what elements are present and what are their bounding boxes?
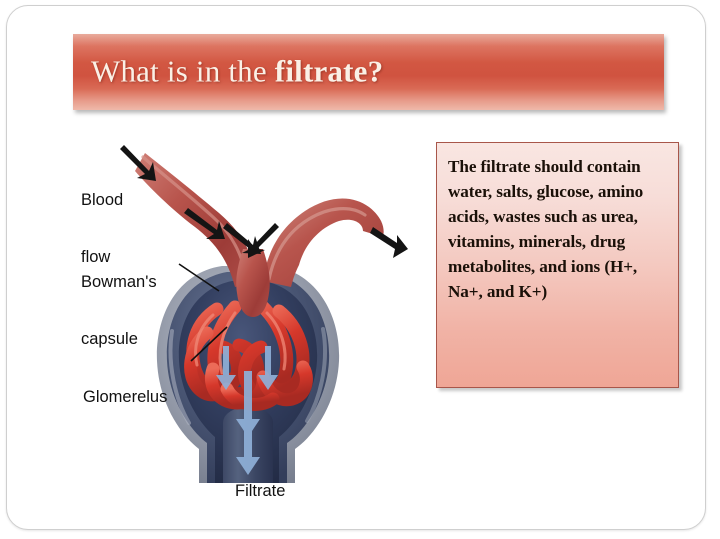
- diagram-label-bowmans-capsule-line1: Bowman's: [81, 273, 157, 292]
- page-title: What is in the filtrate?: [91, 56, 383, 89]
- diagram-label-glomerulus-line1: Glomerelus: [83, 388, 167, 407]
- diagram-label-glomerulus: Glomerelus: [83, 349, 167, 445]
- blood-flow-arrows: [120, 145, 408, 258]
- arteriole-stalk: [236, 249, 270, 317]
- glomerulus-diagram: Blood flow Bowman's capsule Glomerelus F…: [67, 131, 427, 486]
- diagram-label-filtrate: Filtrate: [235, 443, 285, 530]
- slide-canvas: What is in the filtrate? The filtrate sh…: [6, 5, 706, 530]
- page-title-prefix: What is in the: [91, 54, 275, 89]
- diagram-label-filtrate-line1: Filtrate: [235, 482, 285, 501]
- diagram-label-bowmans-capsule-line2: capsule: [81, 330, 157, 349]
- filtrate-contents-textbox: The filtrate should contain water, salts…: [436, 142, 679, 388]
- filtrate-contents-text: The filtrate should contain water, salts…: [448, 154, 668, 304]
- title-banner: What is in the filtrate?: [73, 34, 664, 110]
- efferent-arteriole: [263, 198, 384, 287]
- diagram-label-blood-flow-line1: Blood: [81, 191, 123, 210]
- page-title-emphasis: filtrate?: [275, 54, 384, 89]
